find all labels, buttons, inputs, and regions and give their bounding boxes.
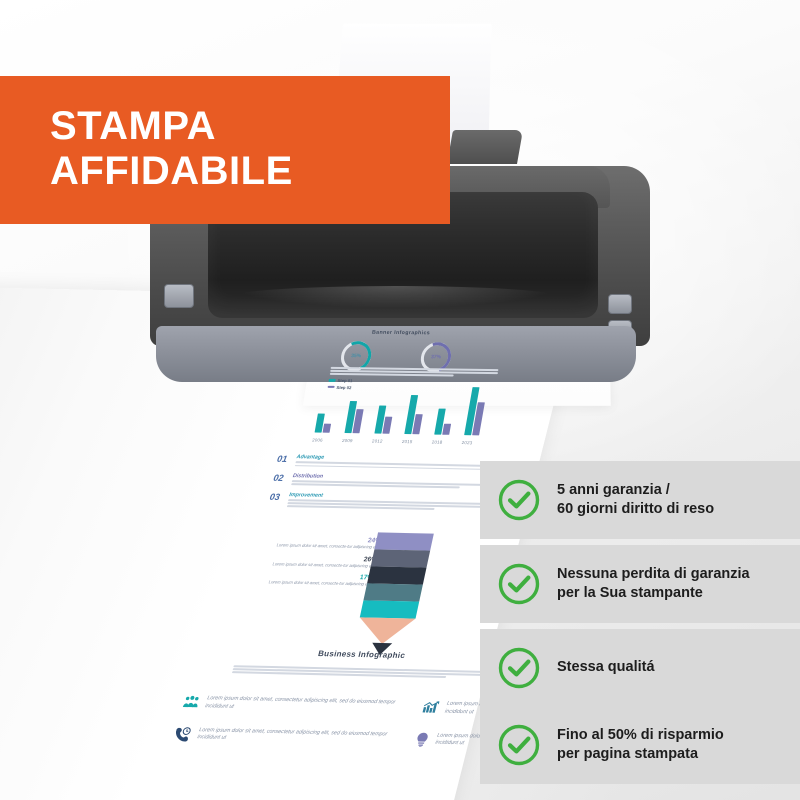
bar [382, 417, 392, 434]
feature-line-2: per pagina stampata [557, 746, 698, 762]
bar-chart: 200620092012201520182023 [311, 380, 501, 445]
feature-panel-4[interactable]: Fino al 50% di risparmio per pagina stam… [480, 706, 800, 784]
feature-panel-text: 5 anni garanzia / 60 giorni diritto di r… [557, 481, 714, 520]
check-circle-icon [497, 562, 541, 606]
feature-panel-3[interactable]: Stessa qualitá [480, 629, 800, 707]
bar-category-label: 2009 [342, 438, 353, 443]
infographic-title: Banner Infographics [372, 330, 431, 337]
feature-line-2: 60 giorni diritto di reso [557, 501, 714, 517]
numbered-steps-list: 01 Advantage 02 Distribution 03 Improvem… [267, 454, 508, 518]
bar-group [464, 387, 487, 436]
printout-feature: Lorem ipsum dolor sit amet, consectetur … [173, 726, 391, 747]
pencil-band [374, 532, 433, 550]
pencil-band [363, 583, 422, 601]
bar-group [434, 409, 454, 435]
feature-line-2: per la Sua stampante [557, 585, 703, 601]
bar-group [344, 401, 365, 433]
headline-line-2: AFFIDABILE [50, 149, 293, 193]
bar-category-label: 2012 [372, 438, 383, 443]
feature-line-1: Nessuna perdita di garanzia [557, 566, 750, 582]
printer-highlight [230, 286, 560, 308]
feature-line-1: Stessa qualitá [557, 659, 655, 675]
check-circle-icon [497, 478, 541, 522]
pencil-stats-list: 24% Lorem ipsum dolor sit amet, consecte… [230, 535, 381, 594]
page-title: STAMPA AFFIDABILE [50, 104, 293, 194]
business-infographic-heading: Business Infographic [317, 649, 406, 660]
step-number: 01 [276, 454, 292, 464]
pencil-band [367, 566, 426, 584]
bar-category-label: 2018 [431, 440, 442, 445]
pencil-band [360, 600, 419, 618]
bar-group [374, 406, 394, 434]
step-item: 02 Distribution [272, 473, 504, 491]
check-circle-icon [497, 646, 541, 690]
bar [323, 423, 332, 432]
marketing-banner-image: Banner Infographics 35% 37% Step 01 Step… [0, 0, 800, 800]
bar [442, 424, 451, 435]
printout-feature-text: Lorem ipsum dolor sit amet, consectetur … [196, 727, 391, 747]
check-circle-icon [497, 723, 541, 767]
feature-panel-text: Fino al 50% di risparmio per pagina stam… [557, 726, 724, 765]
bar-category-label: 2015 [402, 439, 413, 444]
phone-clock-icon [173, 726, 192, 741]
feature-panel-2[interactable]: Nessuna perdita di garanzia per la Sua s… [480, 545, 800, 623]
feature-line-1: 5 anni garanzia / [557, 482, 670, 498]
paper-feed-guide [447, 130, 523, 164]
step-number: 03 [269, 491, 285, 501]
feature-line-1: Fino al 50% di risparmio [557, 727, 724, 743]
printer-button-left[interactable] [164, 284, 194, 308]
headline-line-1: STAMPA [50, 104, 216, 148]
growth-chart-icon [421, 700, 440, 714]
step-number: 02 [273, 473, 289, 483]
people-group-icon [182, 695, 201, 709]
bar-group [315, 414, 333, 433]
pencil-band [371, 549, 430, 567]
printout-feature-text: Lorem ipsum dolor sit amet, consectetur … [204, 695, 399, 715]
lightbulb-icon [413, 732, 431, 747]
pencil-stat: 26% Lorem ipsum dolor sit amet, consecte… [236, 553, 378, 569]
feature-panel-1[interactable]: 5 anni garanzia / 60 giorni diritto di r… [480, 461, 800, 539]
bar-group [404, 395, 426, 434]
pencil-tip [354, 617, 415, 644]
pencil-stat: 17% Lorem ipsum dolor sit amet, consecte… [232, 572, 374, 588]
feature-panel-text: Stessa qualitá [557, 658, 655, 677]
headline-banner: STAMPA AFFIDABILE [0, 76, 450, 224]
bar-category-label: 2006 [312, 437, 323, 442]
printer-button-right-top[interactable] [608, 294, 632, 314]
pencil-stat: 24% Lorem ipsum dolor sit amet, consecte… [240, 535, 382, 551]
feature-panel-text: Nessuna perdita di garanzia per la Sua s… [557, 565, 750, 604]
bar-category-label: 2023 [461, 440, 472, 445]
step-item: 03 Improvement [268, 491, 500, 512]
